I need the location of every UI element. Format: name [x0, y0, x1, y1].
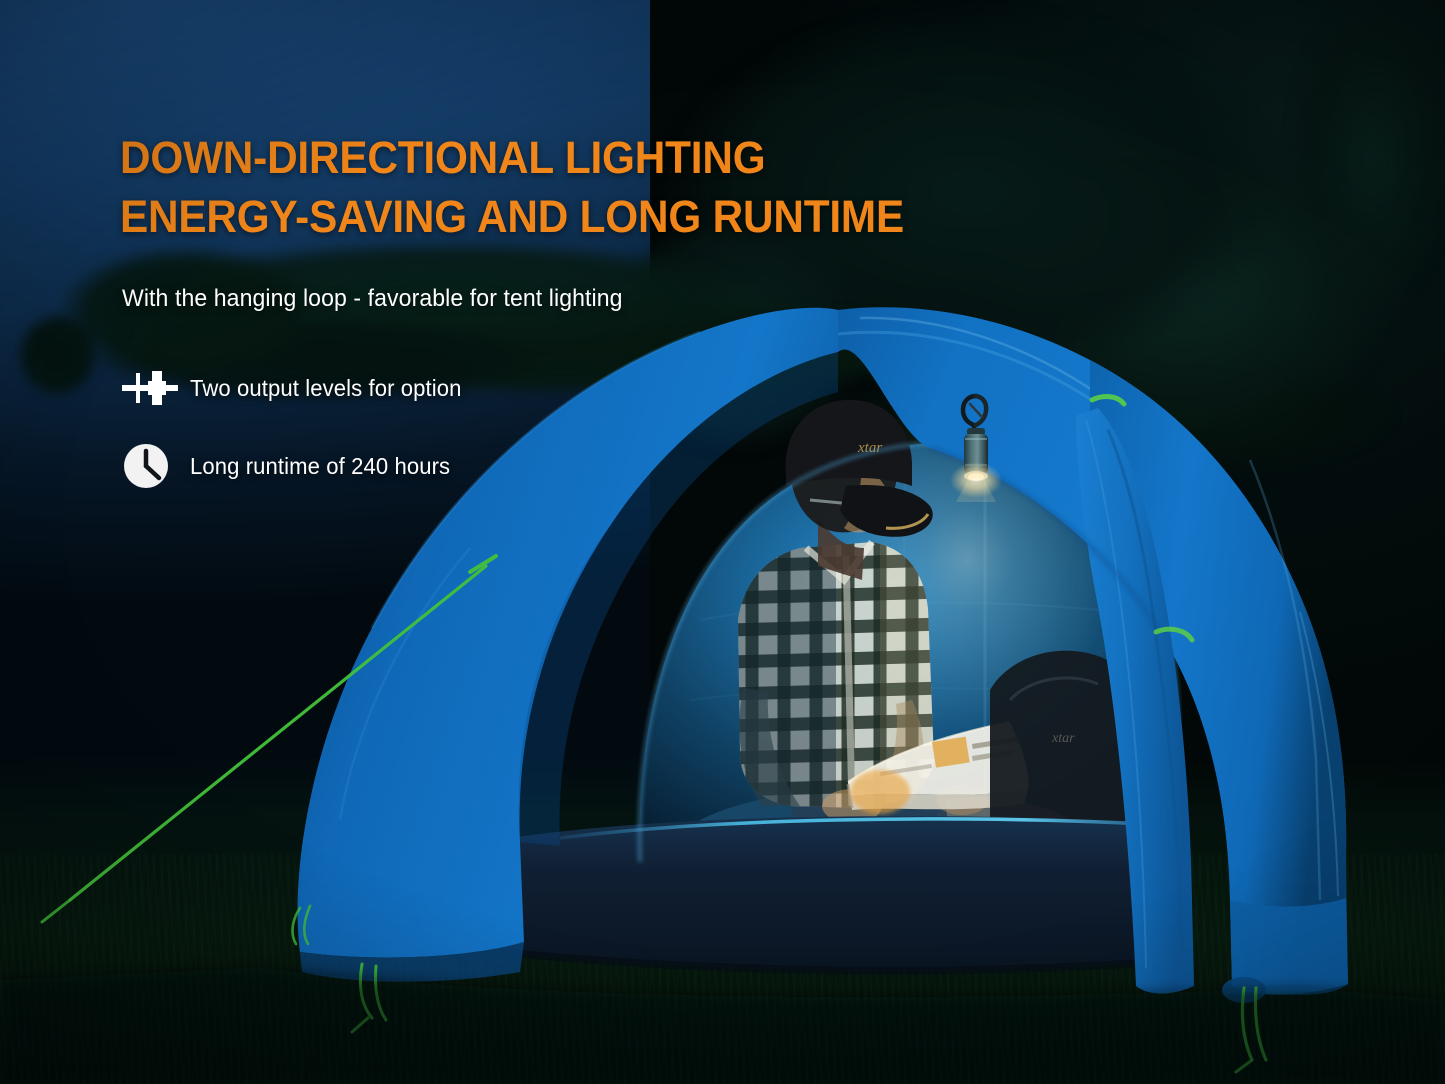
headline-line-2: ENERGY-SAVING AND LONG RUNTIME: [120, 187, 904, 246]
headline-line-1: DOWN-DIRECTIONAL LIGHTING: [120, 128, 904, 187]
tent-floor: [500, 816, 1186, 971]
hanging-lantern: [946, 392, 1006, 502]
svg-text:xtar: xtar: [1051, 731, 1075, 746]
page-title: DOWN-DIRECTIONAL LIGHTING ENERGY-SAVING …: [120, 128, 904, 246]
feature-item-output-levels: Two output levels for option: [122, 362, 473, 414]
feature-list: Two output levels for option Long runtim…: [122, 362, 473, 518]
output-levels-slider-icon: [122, 366, 180, 410]
feature-label-output-levels: Two output levels for option: [190, 375, 462, 402]
subheadline: With the hanging loop - favorable for te…: [122, 283, 623, 315]
feature-label-runtime: Long runtime of 240 hours: [190, 453, 450, 480]
feature-item-runtime: Long runtime of 240 hours: [122, 440, 473, 492]
product-feature-banner: xtar: [0, 0, 1445, 1084]
clock-icon: [122, 444, 180, 488]
